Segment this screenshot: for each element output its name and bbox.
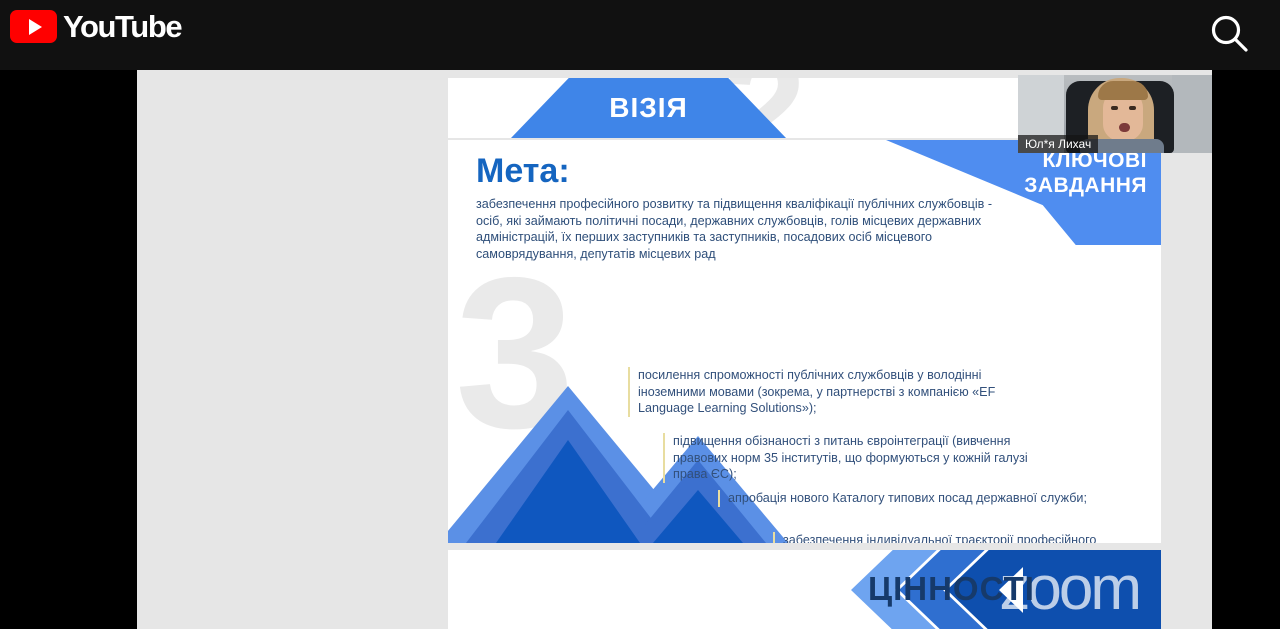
task-item: підвищення обізнаності з питань євроінте… [663,433,1063,483]
key-tasks-heading-line2: ЗАВДАННЯ [1024,173,1147,198]
slide-panel-values: zoom ЦІННОСТІ [448,550,1161,629]
slide-title: Мета: [476,152,570,191]
slide-panel-main: 3 КЛЮЧОВІ ЗАВДАННЯ Мета: забезпечення пр… [448,140,1161,543]
participant-name-label: Юл*я Лихач [1018,135,1098,153]
vision-banner-label: ВІЗІЯ [609,92,687,124]
webcam-hair-bangs [1098,81,1148,100]
participant-video-thumbnail[interactable]: Юл*я Лихач [1018,75,1212,153]
webcam-wall-right [1172,75,1212,153]
webcam-eye-right [1129,106,1136,110]
youtube-wordmark: YouTube [63,10,181,43]
task-item: апробація нового Каталогу типових посад … [718,490,1088,507]
webcam-mouth [1119,123,1130,132]
youtube-logo[interactable]: YouTube [10,10,181,43]
values-banner-label: ЦІННОСТІ [868,570,1035,608]
screen-share-area: 2 ВІЗІЯ 3 КЛЮЧОВІ ЗАВДАННЯ Мета: забезпе… [137,70,1212,629]
task-item: посилення спроможності публічних службов… [628,367,1028,417]
youtube-header-bar: YouTube [0,0,1280,70]
play-triangle-icon [10,10,57,43]
webcam-eye-left [1111,106,1118,110]
slide-body-text: забезпечення професійного розвитку та пі… [476,196,996,262]
task-item: забезпечення індивідуальної траєкторії п… [773,532,1143,543]
video-player-stage[interactable]: 2 ВІЗІЯ 3 КЛЮЧОВІ ЗАВДАННЯ Мета: забезпе… [0,70,1280,629]
search-icon[interactable] [1204,9,1256,61]
